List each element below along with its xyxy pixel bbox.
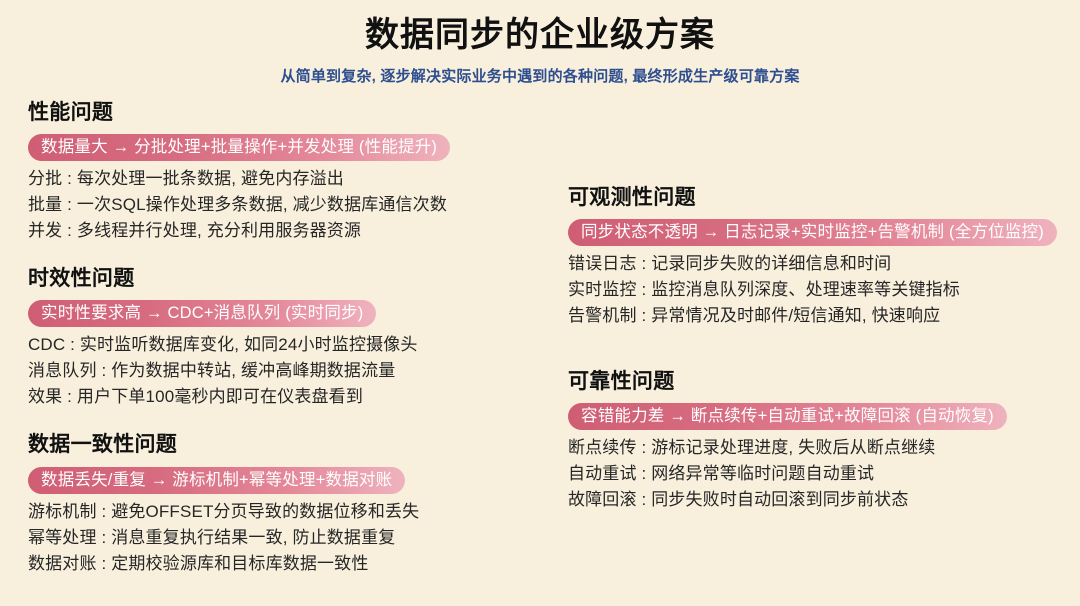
list-item: 幂等处理 : 消息重复执行结果一致, 防止数据重复 (28, 525, 528, 551)
list-item: 消息队列 : 作为数据中转站, 缓冲高峰期数据流量 (28, 358, 528, 384)
list-item: 告警机制 : 异常情况及时邮件/短信通知, 快速响应 (568, 303, 1068, 329)
list-item: 错误日志 : 记录同步失败的详细信息和时间 (568, 251, 1068, 277)
section-performance: 性能问题 数据量大 → 分批处理+批量操作+并发处理 (性能提升) 分批 : 每… (28, 100, 528, 244)
column-left: 性能问题 数据量大 → 分批处理+批量操作+并发处理 (性能提升) 分批 : 每… (28, 100, 528, 577)
solution-badge: 同步状态不透明 → 日志记录+实时监控+告警机制 (全方位监控) (568, 219, 1057, 246)
list-item: 效果 : 用户下单100毫秒内即可在仪表盘看到 (28, 384, 528, 410)
section-reliability: 可靠性问题 容错能力差 → 断点续传+自动重试+故障回滚 (自动恢复) 断点续传… (568, 369, 1068, 513)
column-right: 可观测性问题 同步状态不透明 → 日志记录+实时监控+告警机制 (全方位监控) … (568, 100, 1068, 513)
list-item: 实时监控 : 监控消息队列深度、处理速率等关键指标 (568, 277, 1068, 303)
list-item: 并发 : 多线程并行处理, 充分利用服务器资源 (28, 218, 528, 244)
section-timeliness: 时效性问题 实时性要求高 → CDC+消息队列 (实时同步) CDC : 实时监… (28, 266, 528, 410)
section-heading: 可靠性问题 (568, 369, 1068, 394)
list-item: 数据对账 : 定期校验源库和目标库数据一致性 (28, 551, 528, 577)
page-title: 数据同步的企业级方案 (0, 14, 1080, 57)
list-item: 批量 : 一次SQL操作处理多条数据, 减少数据库通信次数 (28, 192, 528, 218)
section-heading: 数据一致性问题 (28, 432, 528, 457)
list-item: 游标机制 : 避免OFFSET分页导致的数据位移和丢失 (28, 499, 528, 525)
solution-badge: 容错能力差 → 断点续传+自动重试+故障回滚 (自动恢复) (568, 403, 1007, 430)
detail-list: 分批 : 每次处理一批条数据, 避免内存溢出 批量 : 一次SQL操作处理多条数… (28, 166, 528, 244)
solution-badge: 数据量大 → 分批处理+批量操作+并发处理 (性能提升) (28, 134, 450, 161)
poster-header: 数据同步的企业级方案 从简单到复杂, 逐步解决实际业务中遇到的各种问题, 最终形… (0, 0, 1080, 86)
detail-list: 游标机制 : 避免OFFSET分页导致的数据位移和丢失 幂等处理 : 消息重复执… (28, 499, 528, 577)
list-item: 分批 : 每次处理一批条数据, 避免内存溢出 (28, 166, 528, 192)
detail-list: 错误日志 : 记录同步失败的详细信息和时间 实时监控 : 监控消息队列深度、处理… (568, 251, 1068, 329)
list-item: 故障回滚 : 同步失败时自动回滚到同步前状态 (568, 487, 1068, 513)
list-item: 断点续传 : 游标记录处理进度, 失败后从断点继续 (568, 435, 1068, 461)
page-subtitle: 从简单到复杂, 逐步解决实际业务中遇到的各种问题, 最终形成生产级可靠方案 (0, 67, 1080, 87)
solution-badge: 数据丢失/重复 → 游标机制+幂等处理+数据对账 (28, 467, 405, 494)
section-heading: 时效性问题 (28, 266, 528, 291)
section-observability: 可观测性问题 同步状态不透明 → 日志记录+实时监控+告警机制 (全方位监控) … (568, 185, 1068, 329)
list-item: 自动重试 : 网络异常等临时问题自动重试 (568, 461, 1068, 487)
solution-badge: 实时性要求高 → CDC+消息队列 (实时同步) (28, 300, 376, 327)
poster-root: 数据同步的企业级方案 从简单到复杂, 逐步解决实际业务中遇到的各种问题, 最终形… (0, 0, 1080, 606)
detail-list: 断点续传 : 游标记录处理进度, 失败后从断点继续 自动重试 : 网络异常等临时… (568, 435, 1068, 513)
section-heading: 可观测性问题 (568, 185, 1068, 210)
list-item: CDC : 实时监听数据库变化, 如同24小时监控摄像头 (28, 332, 528, 358)
section-consistency: 数据一致性问题 数据丢失/重复 → 游标机制+幂等处理+数据对账 游标机制 : … (28, 432, 528, 576)
section-heading: 性能问题 (28, 100, 528, 125)
detail-list: CDC : 实时监听数据库变化, 如同24小时监控摄像头 消息队列 : 作为数据… (28, 332, 528, 410)
